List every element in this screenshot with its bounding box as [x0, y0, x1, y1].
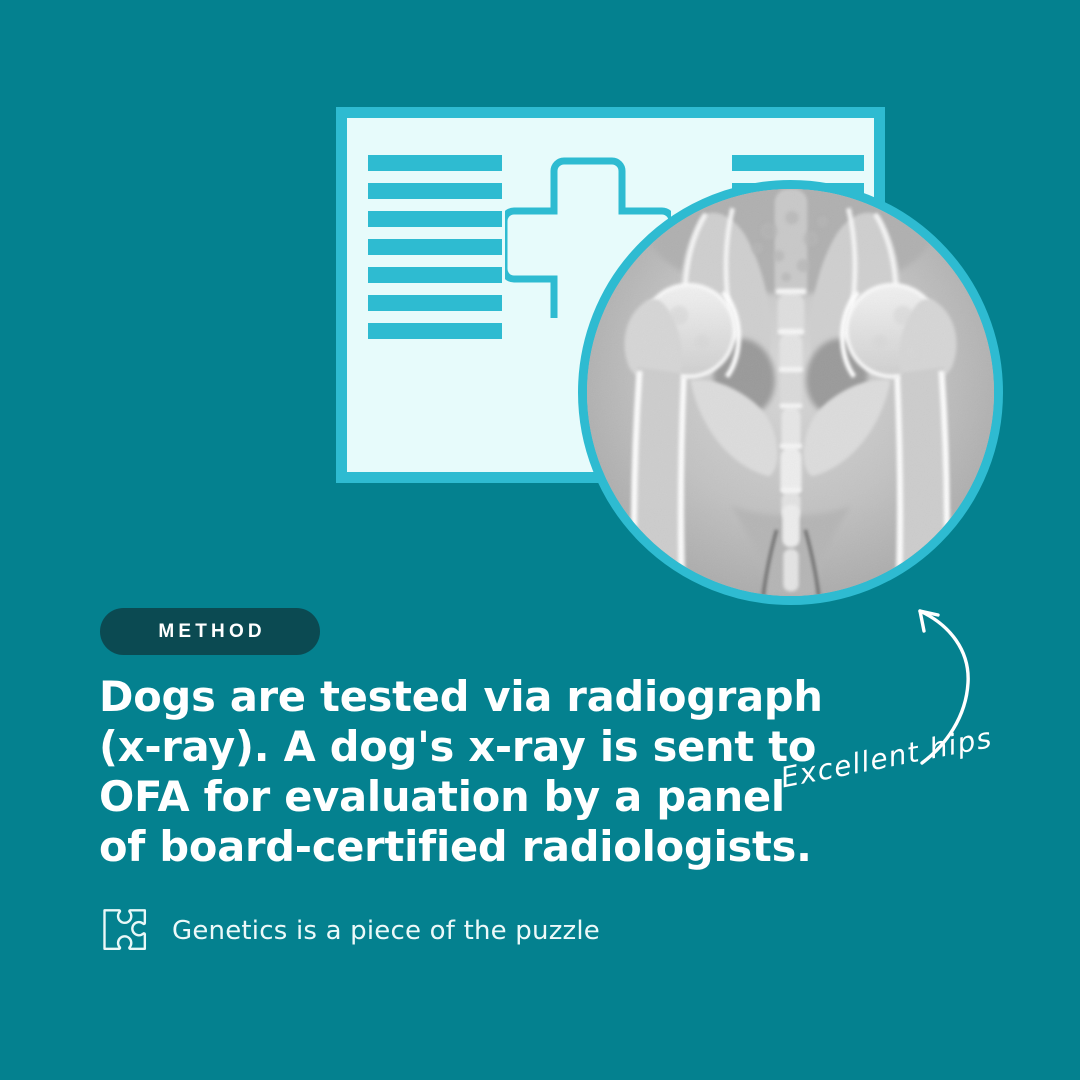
record-text-line — [368, 267, 502, 283]
record-text-line — [368, 183, 502, 199]
record-text-line — [368, 239, 502, 255]
record-text-line — [368, 295, 502, 311]
record-text-line — [368, 155, 502, 171]
method-body-line: Dogs are tested via radiograph — [99, 672, 759, 722]
record-text-line — [368, 323, 502, 339]
record-text-line — [732, 155, 864, 171]
record-text-line — [368, 211, 502, 227]
method-body-text: Dogs are tested via radiograph (x-ray). … — [99, 672, 759, 872]
method-badge-label: METHOD — [154, 621, 266, 643]
footer-tagline-label: Genetics is a piece of the puzzle — [172, 916, 600, 946]
method-badge: METHOD — [100, 608, 320, 655]
method-body-line: of board-certified radiologists. — [99, 822, 759, 872]
method-body-line: (x-ray). A dog's x-ray is sent to — [99, 722, 759, 772]
footer-tagline: Genetics is a piece of the puzzle — [99, 903, 600, 958]
hip-xray-circle — [578, 180, 1003, 605]
puzzle-piece-icon — [99, 903, 154, 958]
method-body-line: OFA for evaluation by a panel — [99, 772, 759, 822]
infographic-canvas: METHOD Dogs are tested via radiograph (x… — [0, 0, 1080, 1080]
